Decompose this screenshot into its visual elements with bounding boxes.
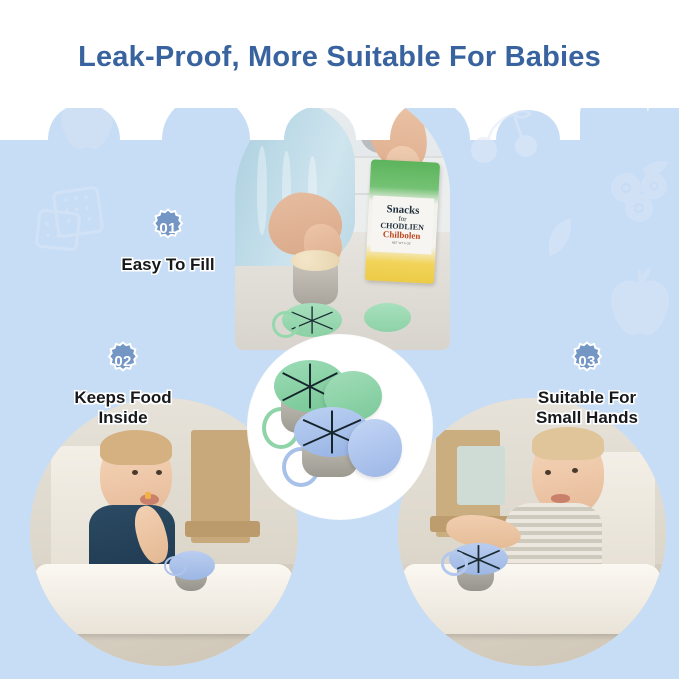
badge-01: 01 [148,208,188,248]
page-title: Leak-Proof, More Suitable For Babies [0,41,679,74]
baby-hair [100,430,172,465]
high-chair-tray [35,564,292,634]
snack-bag-label: Snacks for CHODLIEN Chilbolen NET WT 5 O… [371,196,434,255]
cherry-watermark [466,104,544,170]
feature-03: 03 Suitable For Small Hands [512,341,662,427]
green-lid-handle [272,311,300,338]
green-flat-lid [364,303,411,332]
feature-01: 01 Easy To Fill [93,208,243,275]
blue-cup-handle [441,551,468,576]
apple-watermark-2 [604,262,676,336]
badge-03-number: 03 [567,341,607,381]
badge-01-number: 01 [148,208,188,248]
blue-cup-handle [164,556,187,576]
feature-02: 02 Keeps Food Inside [48,341,198,427]
badge-03: 03 [567,341,607,381]
baby-hair [532,427,604,459]
feature-02-label: Keeps Food Inside [48,388,198,427]
product-hero-circle [248,335,432,519]
high-chair-tray [403,564,660,634]
feature-01-label: Easy To Fill [93,255,243,275]
badge-02: 02 [103,341,143,381]
cloud-scallop-edge [0,70,679,140]
snack-bag: Snacks for CHODLIEN Chilbolen NET WT 5 O… [365,160,440,284]
blue-flat-lid [348,419,402,477]
leaf-watermark [544,216,578,260]
snack-piece [145,492,151,499]
bag-line-5: NET WT 5 OZ [392,242,411,246]
bag-line-4: Chilbolen [383,230,421,241]
berry-watermark [606,156,676,228]
feature-03-label: Suitable For Small Hands [512,388,662,427]
infographic-canvas: Snacks for CHODLIEN Chilbolen NET WT 5 O… [0,0,679,679]
badge-02-number: 02 [103,341,143,381]
photo-baby-striped-shirt-reaching [398,398,666,666]
